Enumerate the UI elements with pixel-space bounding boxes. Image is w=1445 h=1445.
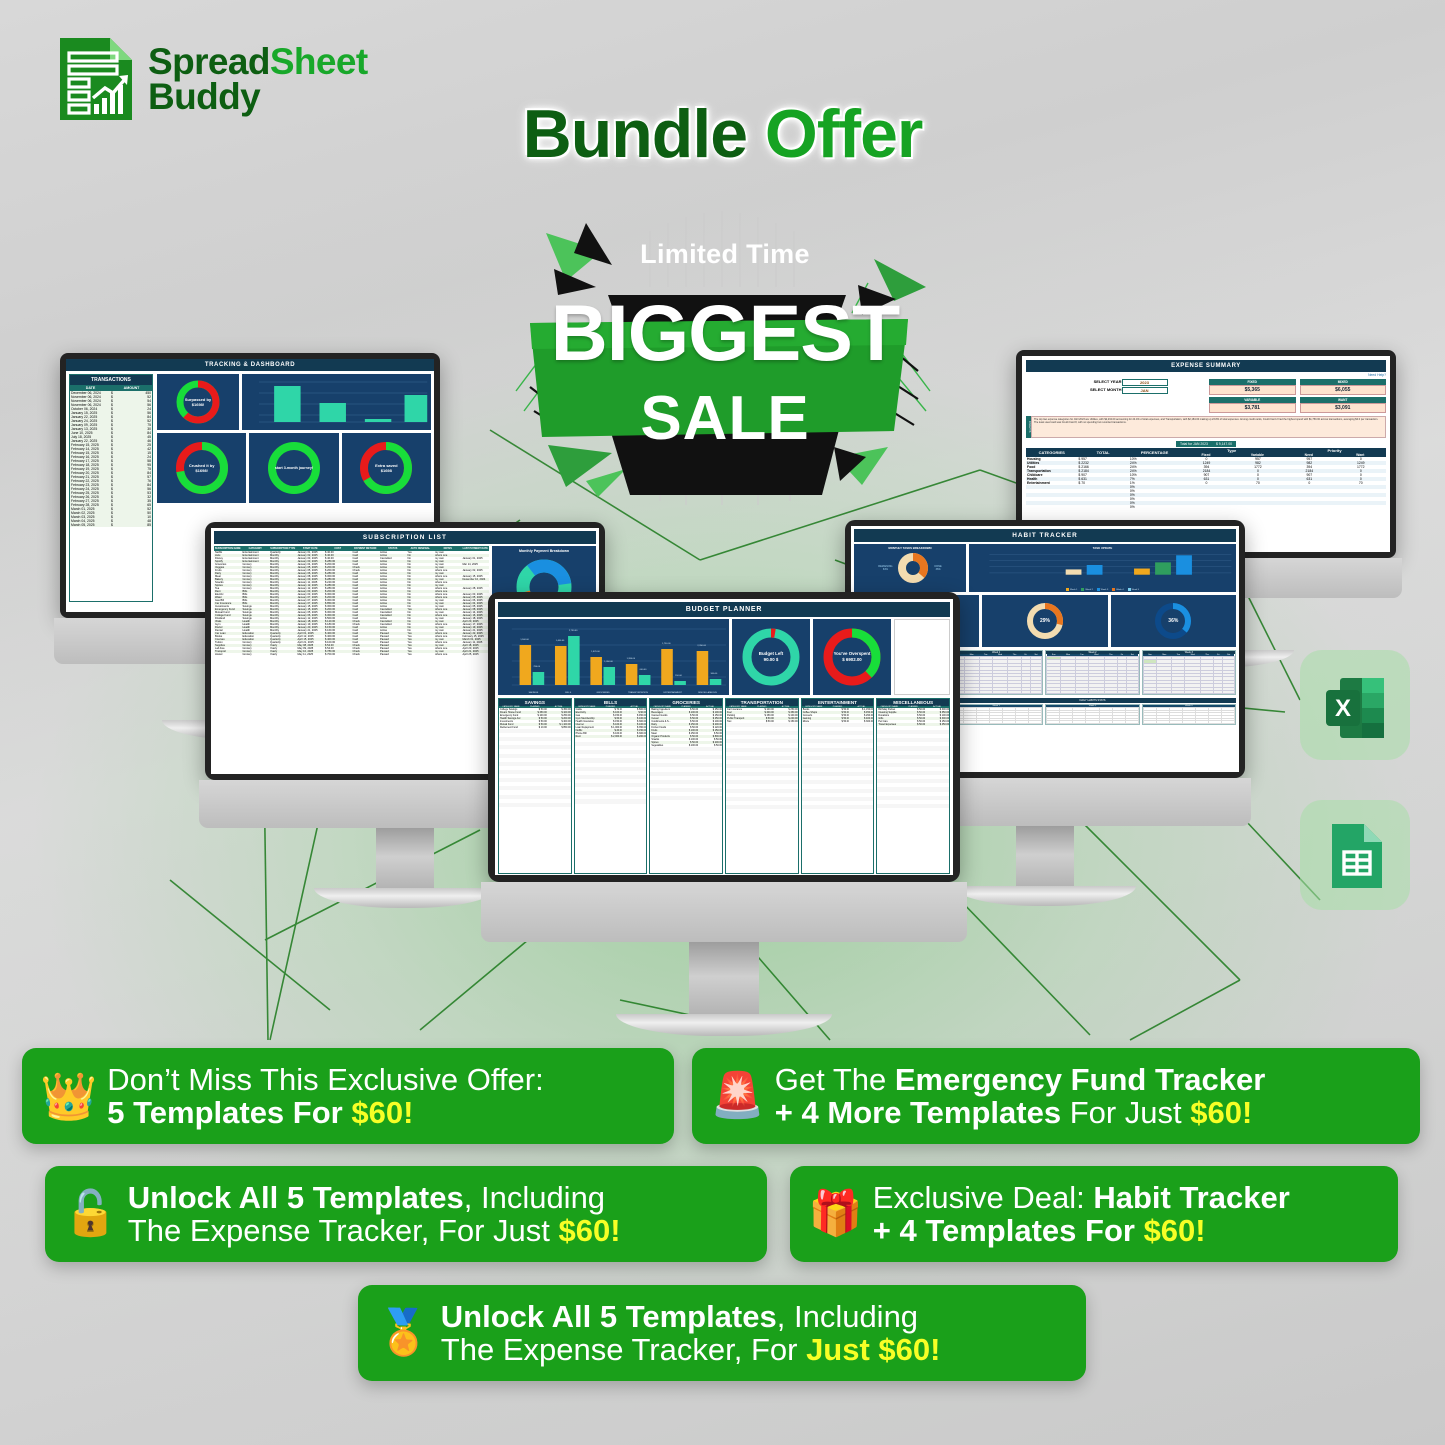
kpi-grid: FIXED$5,365MIXED$6,055VARIABLE$3,781WANT… (1209, 379, 1386, 413)
bar-category: GROCERIES (586, 692, 621, 694)
bar-label-planned: 1,870.00 (591, 651, 600, 653)
promo-line2-seg0: 5 Templates For (107, 1095, 351, 1130)
trx-amount: $85 (111, 523, 152, 527)
bar-label-actual: 360.00 (711, 673, 718, 675)
transactions-table: TRANSACTIONS DATEAMOUNT December 06, 202… (69, 374, 153, 602)
stat-cell (1195, 721, 1208, 724)
sheet-title-budget: BUDGET PLANNER (498, 602, 950, 617)
gauge-value: 90.00 $ (764, 657, 779, 663)
cell: April 25, 2025 (462, 653, 490, 656)
promo-line1-seg1: , Including (464, 1180, 605, 1215)
kpi-card-mixed: MIXED$6,055 (1300, 379, 1387, 395)
promo-line1-seg0: Unlock All 5 Templates (128, 1180, 464, 1215)
habit-gauge-2: 36% (1111, 595, 1236, 647)
cell: May 11, 2025 (297, 653, 325, 656)
monitor-budget-planner: BUDGET PLANNER (488, 592, 960, 1036)
cell: Check (352, 653, 380, 656)
kpi-value: $5,365 (1209, 385, 1296, 395)
total-value: $ 9,147.00 (1216, 442, 1232, 446)
habit-cell[interactable] (1047, 690, 1061, 693)
section-title: GROCERIES (650, 699, 722, 706)
legend-item: Week 5 (1128, 588, 1139, 591)
legend-item: Week 4 (1112, 588, 1123, 591)
habit-cell[interactable] (1201, 690, 1214, 693)
open-padlock-icon: 🔓 (63, 1192, 118, 1236)
habit-cell[interactable] (1030, 690, 1042, 693)
total-bar: Total for JAN 2023 $ 9,147.00 (1176, 441, 1236, 447)
bar-category: BILLS (551, 692, 586, 694)
week-grid: Week 3SunMonTueWedThuFriSat (1142, 650, 1236, 695)
stat-cell (990, 721, 1003, 724)
promo-line2-seg1: $60! (559, 1213, 621, 1248)
col-total: TOTAL (1077, 448, 1128, 457)
stat-cell (1125, 721, 1138, 724)
sale-badge: Limited Time BIGGEST SALE (490, 195, 960, 505)
badge-sale: SALE (490, 383, 960, 454)
habit-cell[interactable] (1223, 690, 1235, 693)
budget-section-bills: BILLSCATEGORY NAMEPLANNEDACTUALCable$ 70… (574, 698, 648, 874)
subscription-table: SUBSCRIPTION NAMECATEGORYSUBSCRIPTION TY… (214, 546, 489, 772)
promo-line1-seg1: Habit Tracker (1093, 1180, 1289, 1215)
habit-cell[interactable] (1143, 690, 1157, 693)
table-row: 0% (1026, 505, 1386, 509)
habit-stats-grid: Week 1 (949, 704, 1043, 725)
gauge-surpassed: Surpassed by $1698! (157, 374, 239, 430)
select-month-value[interactable]: JAN (1122, 387, 1168, 394)
bar-label-planned: 1,750.00 (662, 643, 671, 645)
stat-cell (1029, 721, 1042, 724)
badge-limited-time: Limited Time (490, 239, 960, 270)
budget-section-groceries: GROCERIESCATEGORY NAMEPLANNEDACTUALBakin… (649, 698, 723, 874)
promo-habit[interactable]: 🎁 Exclusive Deal: Habit Tracker + 4 Temp… (790, 1166, 1398, 1262)
promo-crown[interactable]: 👑 Don’t Miss This Exclusive Offer: 5 Tem… (22, 1048, 674, 1144)
bar-label-actual: 780.00 (533, 666, 540, 668)
total-label: Total for JAN 2023 (1180, 442, 1208, 446)
bar-label-actual: 2,750.00 (569, 630, 578, 632)
bar-value-labels: 1,500.001,460.001,870.001,390.001,750.00… (498, 619, 729, 695)
habit-cell[interactable] (1157, 690, 1172, 693)
cell (1283, 505, 1334, 509)
habit-cell[interactable] (1008, 690, 1021, 693)
budget-left-gauge: Budget Left 90.00 $ (732, 619, 810, 695)
col-percentage: PERCENTAGE (1129, 448, 1180, 457)
budget-section-entertainment: ENTERTAINMENTCATEGORY NAMEPLANNEDACTUALB… (801, 698, 875, 874)
bar-label-actual: 1,050.00 (604, 661, 613, 663)
promo-line2-seg1: For Just (1061, 1095, 1190, 1130)
stat-cell (977, 721, 990, 724)
habit-cell[interactable] (1126, 690, 1138, 693)
cell: 0% (1129, 505, 1180, 509)
promo-line1-seg0: Get The (775, 1062, 895, 1097)
crown-icon: 👑 (40, 1073, 97, 1119)
habit-cell[interactable] (1061, 690, 1076, 693)
gauge-crushed: Crushed it by $1698! (157, 433, 246, 503)
bar-category: ENTERTAINMENT (655, 692, 690, 694)
habit-cell[interactable] (1088, 690, 1104, 693)
cell (1335, 505, 1386, 509)
gauge-value: $1698! (195, 468, 207, 473)
section-title: TRANSPORTATION (726, 699, 798, 706)
cell (1232, 505, 1283, 509)
promo-line1-seg0: Exclusive Deal: (873, 1180, 1094, 1215)
gauge-value: $ 6902.00 (842, 657, 862, 663)
select-month-row[interactable]: SELECT MONTH JAN (1062, 387, 1168, 394)
bar-label-planned: 2,350.00 (697, 645, 706, 647)
stat-cell (1086, 721, 1099, 724)
bar-category: MISCELLANEOUS (690, 692, 725, 694)
table-row: March 05, 2025$85 (70, 523, 152, 527)
trx-date: March 05, 2025 (70, 523, 111, 527)
kpi-card-want: WANT$3,091 (1300, 397, 1387, 413)
promo-line2-seg1: $60! (351, 1095, 413, 1130)
right-value: 36% (934, 568, 941, 571)
cell: others one (434, 653, 462, 656)
svg-text:X: X (1335, 695, 1351, 722)
legend-item: Week 1 (1066, 588, 1077, 591)
habit-week-grids: Week 1SunMonTueWedThuFriSatWeek 2SunMonT… (949, 650, 1236, 695)
select-year-label: SELECT YEAR (1062, 379, 1122, 386)
bar-category: SAVINGS (516, 692, 551, 694)
section-title: ENTERTAINMENT (802, 699, 874, 706)
promo-line2-seg2: $60! (1190, 1095, 1252, 1130)
promo-line2-seg0: + 4 More Templates (775, 1095, 1061, 1130)
stat-cell (1016, 721, 1029, 724)
select-month-label: SELECT MONTH (1062, 387, 1122, 394)
stat-cell (1047, 721, 1060, 724)
habit-cell[interactable] (1214, 690, 1223, 693)
kpi-value: $6,055 (1300, 385, 1387, 395)
transactions-grid: DATEAMOUNT December 06, 2024$450November… (70, 385, 152, 527)
bar-label-actual: 150.00 (675, 675, 682, 677)
google-sheets-icon-tile[interactable] (1300, 800, 1410, 910)
budget-sections: SAVINGSCATEGORY NAMEPLANNEDACTUALCollege… (498, 698, 950, 874)
insight-note: The top two expense categories for JAN 2… (1031, 416, 1386, 438)
badge-biggest: BIGGEST (490, 287, 960, 379)
promo-line2-seg0: The Expense Tracker, For Just (128, 1213, 559, 1248)
stat-cell (1003, 721, 1016, 724)
stat-cell (964, 721, 977, 724)
need-help-link[interactable]: Need Help? (1026, 372, 1386, 377)
overspent-gauge: You've Overspent $ 6902.00 (813, 619, 891, 695)
budget-section-savings: SAVINGSCATEGORY NAMEPLANNEDACTUALCollege… (498, 698, 572, 874)
transactions-title: TRANSACTIONS (70, 375, 152, 385)
cell: Yearly (269, 653, 297, 656)
stat-cell (1143, 721, 1156, 724)
select-year-value[interactable]: 2023 (1122, 379, 1168, 386)
gauge-value: $1698 (381, 468, 392, 473)
gift-icon: 🎁 (808, 1192, 863, 1236)
cell (1180, 505, 1231, 509)
promo-line2-seg0: + 4 Templates For (873, 1213, 1144, 1248)
budget-section-transportation: TRANSPORTATIONCATEGORY NAMEPLANNEDACTUAL… (725, 698, 799, 874)
kpi-value: $3,091 (1300, 403, 1387, 413)
stat-cell (1169, 721, 1182, 724)
stat-cell (1221, 721, 1234, 724)
cell: Yes (407, 653, 435, 656)
gauge-journey: start 3-month journey! (249, 433, 338, 503)
habit-cell[interactable] (992, 690, 1008, 693)
gauge-extra-saved: Extra saved $1698 (342, 433, 431, 503)
cell: Grocery (242, 653, 270, 656)
habit-stats-grid: Week 3 (1142, 704, 1236, 725)
stat-cell (1073, 721, 1086, 724)
cell (1077, 505, 1128, 509)
select-year-row[interactable]: SELECT YEAR 2023 (1062, 379, 1168, 386)
promo-unlock-lock[interactable]: 🔓 Unlock All 5 Templates, Including The … (45, 1166, 767, 1262)
panel-title: MONTHLY TASKS BREAKDOWN (856, 546, 964, 550)
gauge-value: 29% (1024, 600, 1066, 642)
habit-cell[interactable] (1104, 690, 1117, 693)
budget-section-miscellaneous: MISCELLANEOUSCATEGORY NAMEPLANNEDACTUALB… (876, 698, 950, 874)
habit-cell[interactable] (1117, 690, 1126, 693)
brand-name-part2: Sheet (270, 41, 368, 82)
bar-label-actual: 640.00 (640, 669, 647, 671)
bar-category-labels: SAVINGSBILLSGROCERIESTRANSPORTATIONENTER… (516, 692, 725, 694)
cell: Paused (379, 653, 407, 656)
week-grid: Week 2SunMonTueWedThuFriSat (1045, 650, 1139, 695)
promo-line1-seg1: , Including (777, 1299, 918, 1334)
habit-cell[interactable] (964, 690, 979, 693)
sheet-title-tracking: TRACKING & DASHBOARD (66, 359, 434, 371)
kpi-value: $3,781 (1209, 403, 1296, 413)
habit-cell[interactable] (1021, 690, 1030, 693)
promo-unlock-medal[interactable]: 🏅 Unlock All 5 Templates, Including The … (358, 1285, 1086, 1381)
sheet-title-habit: HABIT TRACKER (854, 529, 1236, 542)
promo-line1-seg0: Don’t Miss This Exclusive Offer: (107, 1062, 543, 1097)
left-value: 64% (878, 568, 892, 571)
cell: Hostel (214, 653, 242, 656)
kpi-card-variable: VARIABLE$3,781 (1209, 397, 1296, 413)
page-title: Bundle Offer (0, 95, 1445, 173)
cell (1026, 505, 1077, 509)
bar-category: TRANSPORTATION (620, 692, 655, 694)
headline-part1: Bundle (523, 96, 765, 172)
table-row: HostelGroceryYearlyMay 11, 2025$ 700.00C… (214, 653, 489, 656)
daily-habits-stats-title: DAILY HABITS STATS (949, 698, 1236, 703)
sheet-title-subscription: SUBSCRIPTION LIST (214, 531, 596, 544)
stat-cell (1112, 721, 1125, 724)
bar-label-planned: 1,390.00 (627, 658, 636, 660)
medal-icon: 🏅 (376, 1311, 431, 1355)
habit-gauge-1: 29% (982, 595, 1107, 647)
monthly-tasks-breakdown: MONTHLY TASKS BREAKDOWN REMAINING 64% DO… (854, 544, 966, 592)
headline-part2: Offer (765, 96, 922, 172)
week-grid: Week 1SunMonTueWedThuFriSat (949, 650, 1043, 695)
stat-cell (1208, 721, 1221, 724)
gauge-value: $1698! (192, 402, 204, 407)
monthly-bar-chart (242, 374, 431, 430)
gauge-value: 36% (1152, 600, 1194, 642)
section-title: MISCELLANEOUS (877, 699, 949, 706)
bar-label-planned: 1,460.00 (556, 640, 565, 642)
promo-line2-seg1: Just $60! (806, 1332, 940, 1367)
stat-cell (1182, 721, 1195, 724)
promo-line1-seg1: Emergency Fund Tracker (895, 1062, 1265, 1097)
legend-item: Week 2 (1081, 588, 1092, 591)
cell: $ 700.00 (324, 653, 352, 656)
kpi-card-fixed: FIXED$5,365 (1209, 379, 1296, 395)
promo-line1-seg0: Unlock All 5 Templates (441, 1299, 777, 1334)
promo-line2-seg1: $60! (1144, 1213, 1206, 1248)
expense-category-table: CATEGORIES TOTAL PERCENTAGE Type Priorit… (1026, 448, 1386, 509)
chart-legend: Week 1Week 2Week 3Week 4Week 5 (969, 588, 1236, 591)
col-categories: CATEGORIES (1026, 448, 1077, 457)
task-update-chart: TASK UPDATE Week 1Week 2Week 3Week 4Week… (969, 544, 1236, 592)
section-title: SAVINGS (499, 699, 571, 706)
section-title: BILLS (575, 699, 647, 706)
habit-cell[interactable] (1076, 690, 1089, 693)
excel-icon-tile[interactable]: X (1300, 650, 1410, 760)
habit-stats-grid: Week 2 (1045, 704, 1139, 725)
warning-alarm-icon: 🚨 (710, 1074, 765, 1118)
sheet-title-expense: EXPENSE SUMMARY (1026, 360, 1386, 372)
stat-cell (1060, 721, 1073, 724)
budget-bar-chart: 1,500.001,460.001,870.001,390.001,750.00… (498, 619, 729, 695)
promo-emergency[interactable]: 🚨 Get The Emergency Fund Tracker + 4 Mor… (692, 1048, 1420, 1144)
habit-cell[interactable] (1185, 690, 1201, 693)
cell: December 10, 2024 (462, 578, 490, 581)
stat-cell (1156, 721, 1169, 724)
promo-line2-seg0: The Expense Tracker, For (441, 1332, 806, 1367)
stat-cell (1099, 721, 1112, 724)
habit-cell[interactable] (1172, 690, 1185, 693)
gauge-label: start 3-month journey! (275, 466, 313, 470)
legend-item: Week 3 (1097, 588, 1108, 591)
bar-label-planned: 1,500.00 (520, 639, 529, 641)
chart-title: Monthly Payment Breakdown (495, 549, 593, 553)
habit-cell[interactable] (979, 690, 992, 693)
